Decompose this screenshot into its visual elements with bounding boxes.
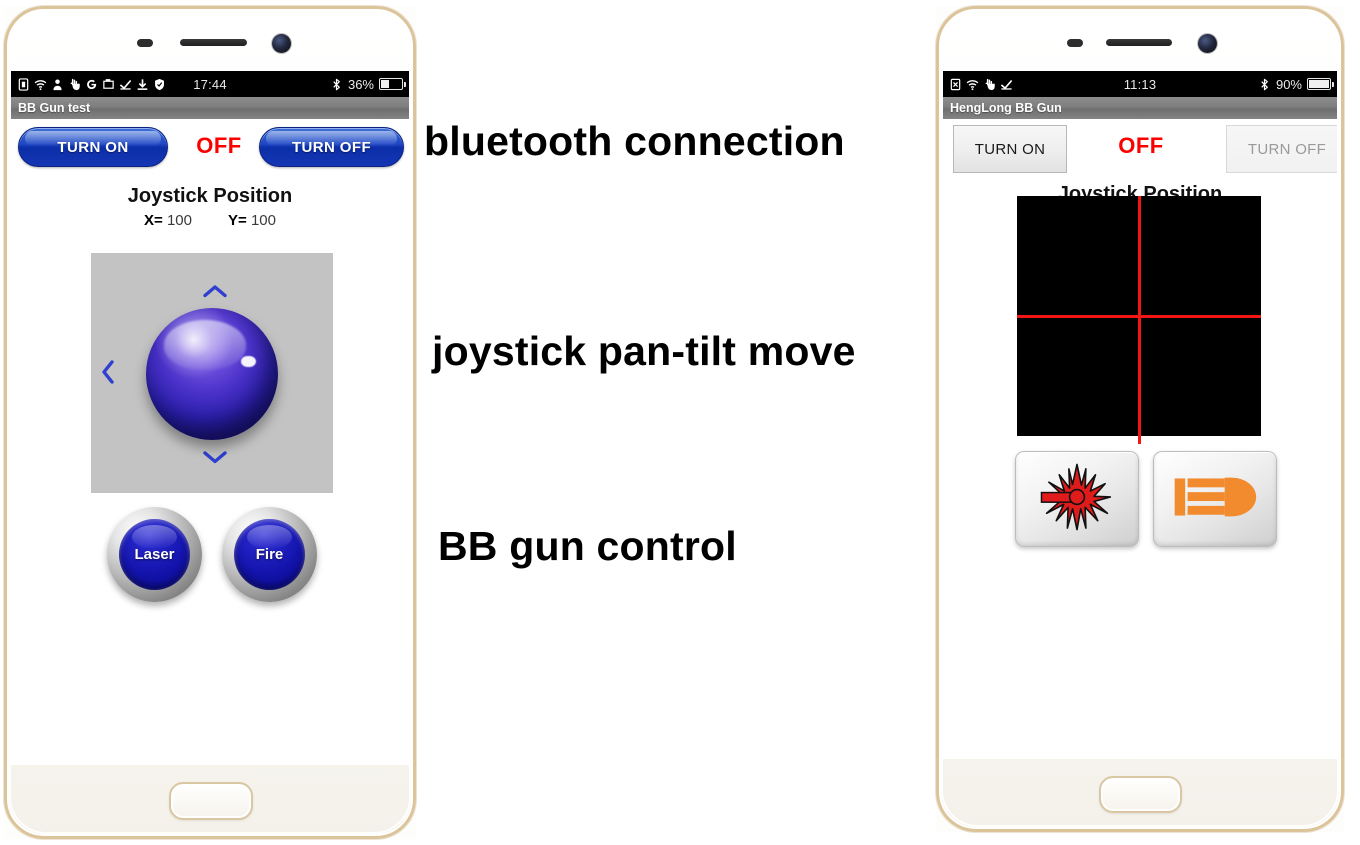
right-phone-screen: 11:13 90% HengLong BB Gun TURN ON OFF (943, 71, 1337, 759)
right-battery-percent: 90% (1276, 77, 1302, 92)
turn-off-button[interactable]: TURN OFF (259, 127, 404, 167)
proximity-sensor-icon (137, 39, 153, 47)
left-status-right: 36% (330, 77, 403, 92)
right-connection-row: TURN ON OFF TURN OFF (943, 119, 1337, 175)
screenshot-root: 17:44 36% BB Gun test TURN ON OFF (0, 0, 1360, 845)
right-phone: 11:13 90% HengLong BB Gun TURN ON OFF (936, 6, 1344, 832)
chevron-left-icon[interactable] (100, 359, 116, 389)
right-app-title-bar: HengLong BB Gun (943, 97, 1337, 119)
connection-status-badge: OFF (189, 133, 249, 159)
turn-on-label: TURN ON (975, 141, 1045, 158)
left-connection-row: TURN ON OFF TURN OFF (11, 119, 409, 175)
joystick-position-title: Joystick Position (11, 185, 409, 208)
turn-on-button[interactable]: TURN ON (953, 125, 1067, 173)
annotation-bluetooth-connection: bluetooth connection (424, 118, 845, 165)
laser-button-label: Laser (134, 546, 174, 563)
turn-off-label: TURN OFF (292, 139, 371, 156)
laser-button[interactable]: Laser (107, 507, 202, 602)
proximity-sensor-icon (1067, 39, 1083, 47)
turn-off-button[interactable]: TURN OFF (1226, 125, 1337, 173)
left-battery-percent: 36% (348, 77, 374, 92)
joystick-x-value: 100 (167, 212, 192, 229)
left-app-title: BB Gun test (18, 101, 90, 115)
left-phone: 17:44 36% BB Gun test TURN ON OFF (4, 6, 416, 839)
right-status-right: 90% (1258, 77, 1331, 92)
front-camera-icon (272, 34, 291, 53)
joystick-knob[interactable] (146, 308, 278, 440)
right-app-title: HengLong BB Gun (950, 101, 1062, 115)
bullet-icon (1173, 472, 1257, 527)
chevron-down-icon[interactable] (202, 449, 228, 469)
laser-button[interactable] (1015, 451, 1139, 547)
home-button[interactable] (1099, 776, 1182, 813)
left-status-bar: 17:44 36% (11, 71, 409, 97)
home-button[interactable] (169, 782, 253, 820)
joystick-y: Y= 100 (228, 212, 276, 229)
earpiece-speaker-icon (180, 39, 247, 46)
bluetooth-icon (1258, 78, 1271, 91)
turn-off-label: TURN OFF (1248, 141, 1326, 158)
joystick-pad[interactable] (1017, 196, 1261, 436)
joystick-y-label: Y= (228, 212, 247, 229)
battery-icon (379, 78, 403, 90)
laser-burst-icon (1040, 460, 1114, 539)
left-app-title-bar: BB Gun test (11, 97, 409, 119)
joystick-x: X= 100 (144, 212, 192, 229)
fire-button[interactable] (1153, 451, 1277, 547)
fire-button[interactable]: Fire (222, 507, 317, 602)
fire-button-label: Fire (256, 546, 284, 563)
annotation-joystick-pan-tilt: joystick pan-tilt move (432, 328, 856, 375)
annotation-bb-gun-control: BB gun control (438, 523, 737, 570)
crosshair-vertical-line (1138, 196, 1141, 444)
right-phone-top-bezel (936, 6, 1344, 72)
front-camera-icon (1198, 34, 1217, 53)
left-phone-screen: 17:44 36% BB Gun test TURN ON OFF (11, 71, 409, 765)
joystick-pad[interactable] (91, 253, 333, 493)
joystick-y-value: 100 (251, 212, 276, 229)
battery-icon (1307, 78, 1331, 90)
connection-status-badge: OFF (1111, 133, 1171, 159)
turn-on-label: TURN ON (57, 139, 128, 156)
joystick-x-label: X= (144, 212, 163, 229)
chevron-up-icon[interactable] (202, 277, 228, 303)
earpiece-speaker-icon (1106, 39, 1172, 46)
right-status-bar: 11:13 90% (943, 71, 1337, 97)
turn-on-button[interactable]: TURN ON (18, 127, 168, 167)
left-joystick-header: Joystick Position X= 100 Y= 100 (11, 185, 409, 229)
joystick-coords: X= 100 Y= 100 (11, 212, 409, 229)
bluetooth-icon (330, 78, 343, 91)
left-phone-top-bezel (4, 6, 416, 72)
